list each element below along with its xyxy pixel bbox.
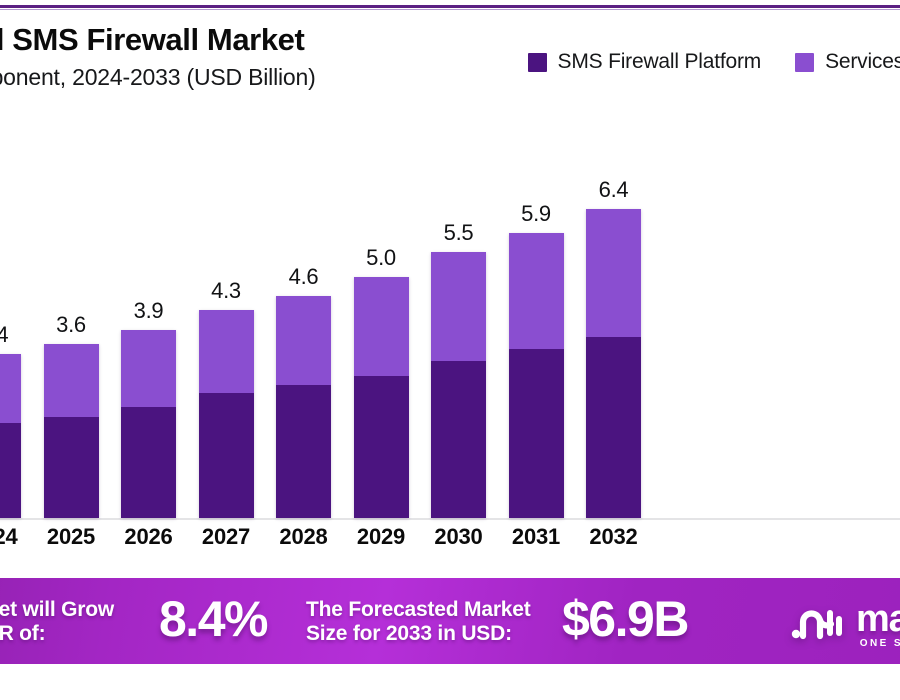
bar-group[interactable] <box>354 277 409 519</box>
x-axis-tick-label: 2032 <box>574 524 654 550</box>
bar-value-label: 4.3 <box>211 278 241 304</box>
stacked-bar[interactable] <box>354 277 409 519</box>
legend-swatch-icon <box>795 53 814 72</box>
bar-value-label: 3.9 <box>134 298 164 324</box>
stacked-bar[interactable] <box>509 233 564 518</box>
legend-item-label: SMS Firewall Platform <box>558 50 762 74</box>
bar-value-label: 4.6 <box>289 264 319 290</box>
infographic-card: Global SMS Firewall Market By Component,… <box>0 0 900 700</box>
bar-value-label: 5.9 <box>521 201 551 227</box>
bar-segment-platform[interactable] <box>0 423 21 518</box>
cagr-caption-line1: The Market will Grow <box>0 598 114 622</box>
bar-group[interactable] <box>586 209 641 518</box>
legend-item-label: Services <box>825 50 900 74</box>
bar-value-label: 3.4 <box>0 322 8 348</box>
legend-swatch-icon <box>528 53 547 72</box>
bar-group[interactable] <box>276 296 331 518</box>
bar-segment-services[interactable] <box>0 354 21 424</box>
bar-segment-services[interactable] <box>354 277 409 376</box>
stacked-bar[interactable] <box>431 252 486 518</box>
stacked-bar[interactable] <box>586 209 641 518</box>
forecast-value: $6.9B <box>562 590 688 648</box>
bar-segment-platform[interactable] <box>44 417 99 518</box>
summary-banner: The Market will Grow At a CAGR of: 8.4% … <box>0 578 900 664</box>
logo-tagline: ONE STOP SHOP <box>860 638 900 649</box>
x-axis-tick-label: 2026 <box>109 524 189 550</box>
bar-segment-platform[interactable] <box>121 407 176 518</box>
bar-segment-platform[interactable] <box>431 361 486 518</box>
x-axis-tick-label: 2027 <box>186 524 266 550</box>
logo-wordmark: market <box>856 601 900 637</box>
cagr-value: 8.4% <box>159 590 267 648</box>
chart-subtitle: By Component, 2024-2033 (USD Billion) <box>0 64 510 90</box>
bar-segment-services[interactable] <box>431 252 486 361</box>
cagr-caption: The Market will Grow At a CAGR of: <box>0 598 114 646</box>
bar-value-label: 6.4 <box>599 177 629 203</box>
x-axis-tick-label: 2031 <box>496 524 576 550</box>
bar-group[interactable] <box>0 354 21 518</box>
page-title: Global SMS Firewall Market <box>0 22 510 57</box>
bar-value-label: 3.6 <box>56 312 86 338</box>
x-axis-tick-label: 2024 <box>0 524 34 550</box>
bar-segment-services[interactable] <box>44 344 99 416</box>
title-block: Global SMS Firewall Market By Component,… <box>0 22 510 91</box>
bar-segment-platform[interactable] <box>354 376 409 518</box>
top-accent-rule-secondary <box>0 9 900 10</box>
bar-segment-services[interactable] <box>199 310 254 393</box>
forecast-caption-line1: The Forecasted Market <box>306 598 531 622</box>
stacked-bar[interactable] <box>121 330 176 518</box>
infographic-canvas: Global SMS Firewall Market By Component,… <box>0 0 900 676</box>
bar-group[interactable] <box>509 233 564 518</box>
bar-group[interactable] <box>199 310 254 518</box>
x-axis-tick-label: 2029 <box>341 524 421 550</box>
bar-segment-services[interactable] <box>276 296 331 385</box>
chart-header: Global SMS Firewall Market By Component,… <box>0 16 900 112</box>
top-accent-rule <box>0 5 900 8</box>
cagr-caption-line2: At a CAGR of: <box>0 622 114 646</box>
x-axis-tick-label: 2030 <box>419 524 499 550</box>
bar-segment-platform[interactable] <box>586 337 641 518</box>
forecast-caption-line2: Size for 2033 in USD: <box>306 622 531 646</box>
bar-segment-services[interactable] <box>121 330 176 407</box>
stacked-bar[interactable] <box>276 296 331 518</box>
x-axis-line <box>0 518 900 520</box>
bar-group[interactable] <box>431 252 486 518</box>
stacked-bar[interactable] <box>44 344 99 518</box>
bar-segment-platform[interactable] <box>509 349 564 518</box>
brand-logo[interactable]: market ONE STOP SHOP <box>790 600 900 642</box>
bar-value-label: 5.5 <box>444 220 474 246</box>
bar-group[interactable] <box>121 330 176 518</box>
bar-group[interactable] <box>44 344 99 518</box>
stacked-bar[interactable] <box>199 310 254 518</box>
bar-segment-platform[interactable] <box>276 385 331 518</box>
x-axis-tick-label: 2025 <box>31 524 111 550</box>
bar-segment-platform[interactable] <box>199 393 254 518</box>
market-research-logo-icon <box>790 600 844 642</box>
chart-legend: SMS Firewall Platform Services <box>528 50 900 74</box>
logo-wordmark-wrap: market ONE STOP SHOP <box>856 601 900 640</box>
legend-item-services[interactable]: Services <box>795 50 900 74</box>
x-axis-tick-label: 2028 <box>264 524 344 550</box>
stacked-bar[interactable] <box>0 354 21 518</box>
bar-segment-services[interactable] <box>509 233 564 349</box>
bar-segment-services[interactable] <box>586 209 641 337</box>
x-axis-labels: 2023202420252026202720282029203020312032 <box>0 524 900 558</box>
forecast-caption: The Forecasted Market Size for 2033 in U… <box>306 598 531 646</box>
bar-value-label: 5.0 <box>366 245 396 271</box>
legend-item-platform[interactable]: SMS Firewall Platform <box>528 50 762 74</box>
bar-chart-plot-area: 3.13.43.63.94.34.65.05.55.96.4 <box>0 130 900 520</box>
